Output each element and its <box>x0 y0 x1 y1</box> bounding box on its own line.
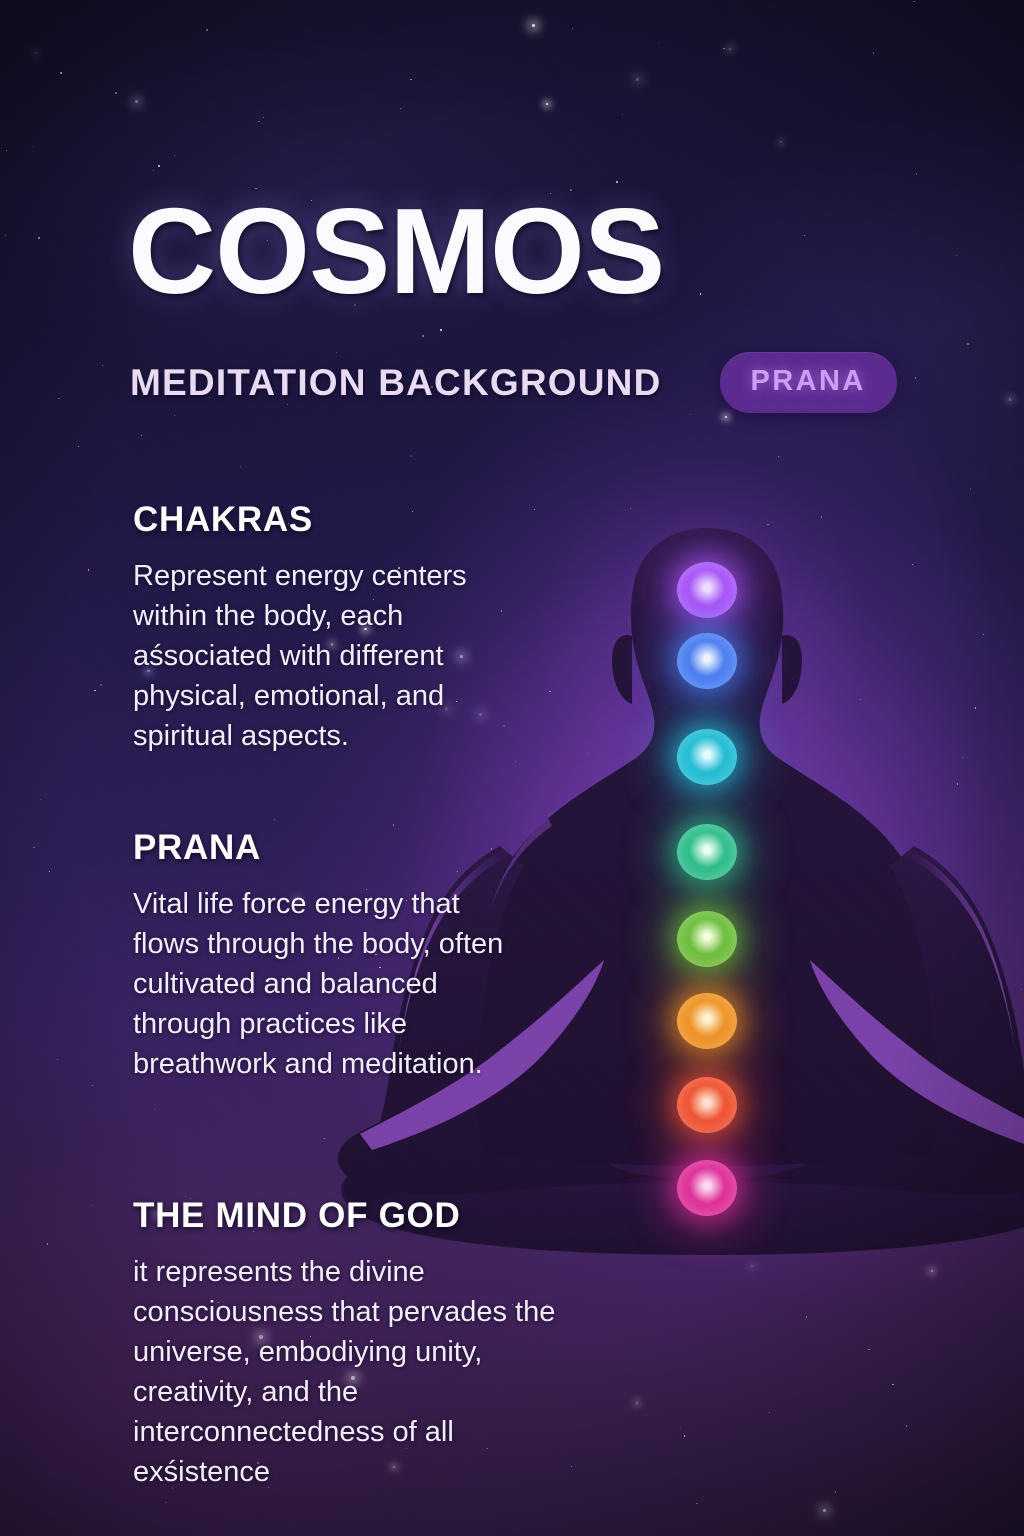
section-body: Vital life force energy that flows throu… <box>133 884 533 1084</box>
section-heading: CHAKRAS <box>133 500 533 540</box>
subtitle-row: MEDITATION BACKGROUND PRANA <box>130 352 897 413</box>
section-body: it represents the divine consciousness t… <box>133 1252 563 1492</box>
throat-chakra[interactable] <box>677 729 737 785</box>
navel-chakra[interactable] <box>677 1077 737 1133</box>
third-eye-chakra[interactable] <box>677 633 737 689</box>
section-heading: PRANA <box>133 828 533 868</box>
section-chakras: CHAKRAS Represent energy centers within … <box>133 500 533 756</box>
section-heading: THE MIND OF GOD <box>133 1196 563 1236</box>
solar-plexus-chakra[interactable] <box>677 911 737 967</box>
section-body: Represent energy centers within the body… <box>133 556 533 756</box>
heart-chakra[interactable] <box>677 824 737 880</box>
crown-chakra[interactable] <box>677 562 737 618</box>
page-subtitle: MEDITATION BACKGROUND <box>130 362 662 404</box>
sacral-chakra[interactable] <box>677 993 737 1049</box>
prana-badge[interactable]: PRANA <box>720 352 897 413</box>
section-mind-of-god: THE MIND OF GOD it represents the divine… <box>133 1196 563 1492</box>
root-chakra[interactable] <box>677 1160 737 1216</box>
page-title: COSMOS <box>128 190 664 312</box>
section-prana: PRANA Vital life force energy that flows… <box>133 828 533 1084</box>
poster-canvas: COSMOS MEDITATION BACKGROUND PRANA CHAKR… <box>0 0 1024 1536</box>
